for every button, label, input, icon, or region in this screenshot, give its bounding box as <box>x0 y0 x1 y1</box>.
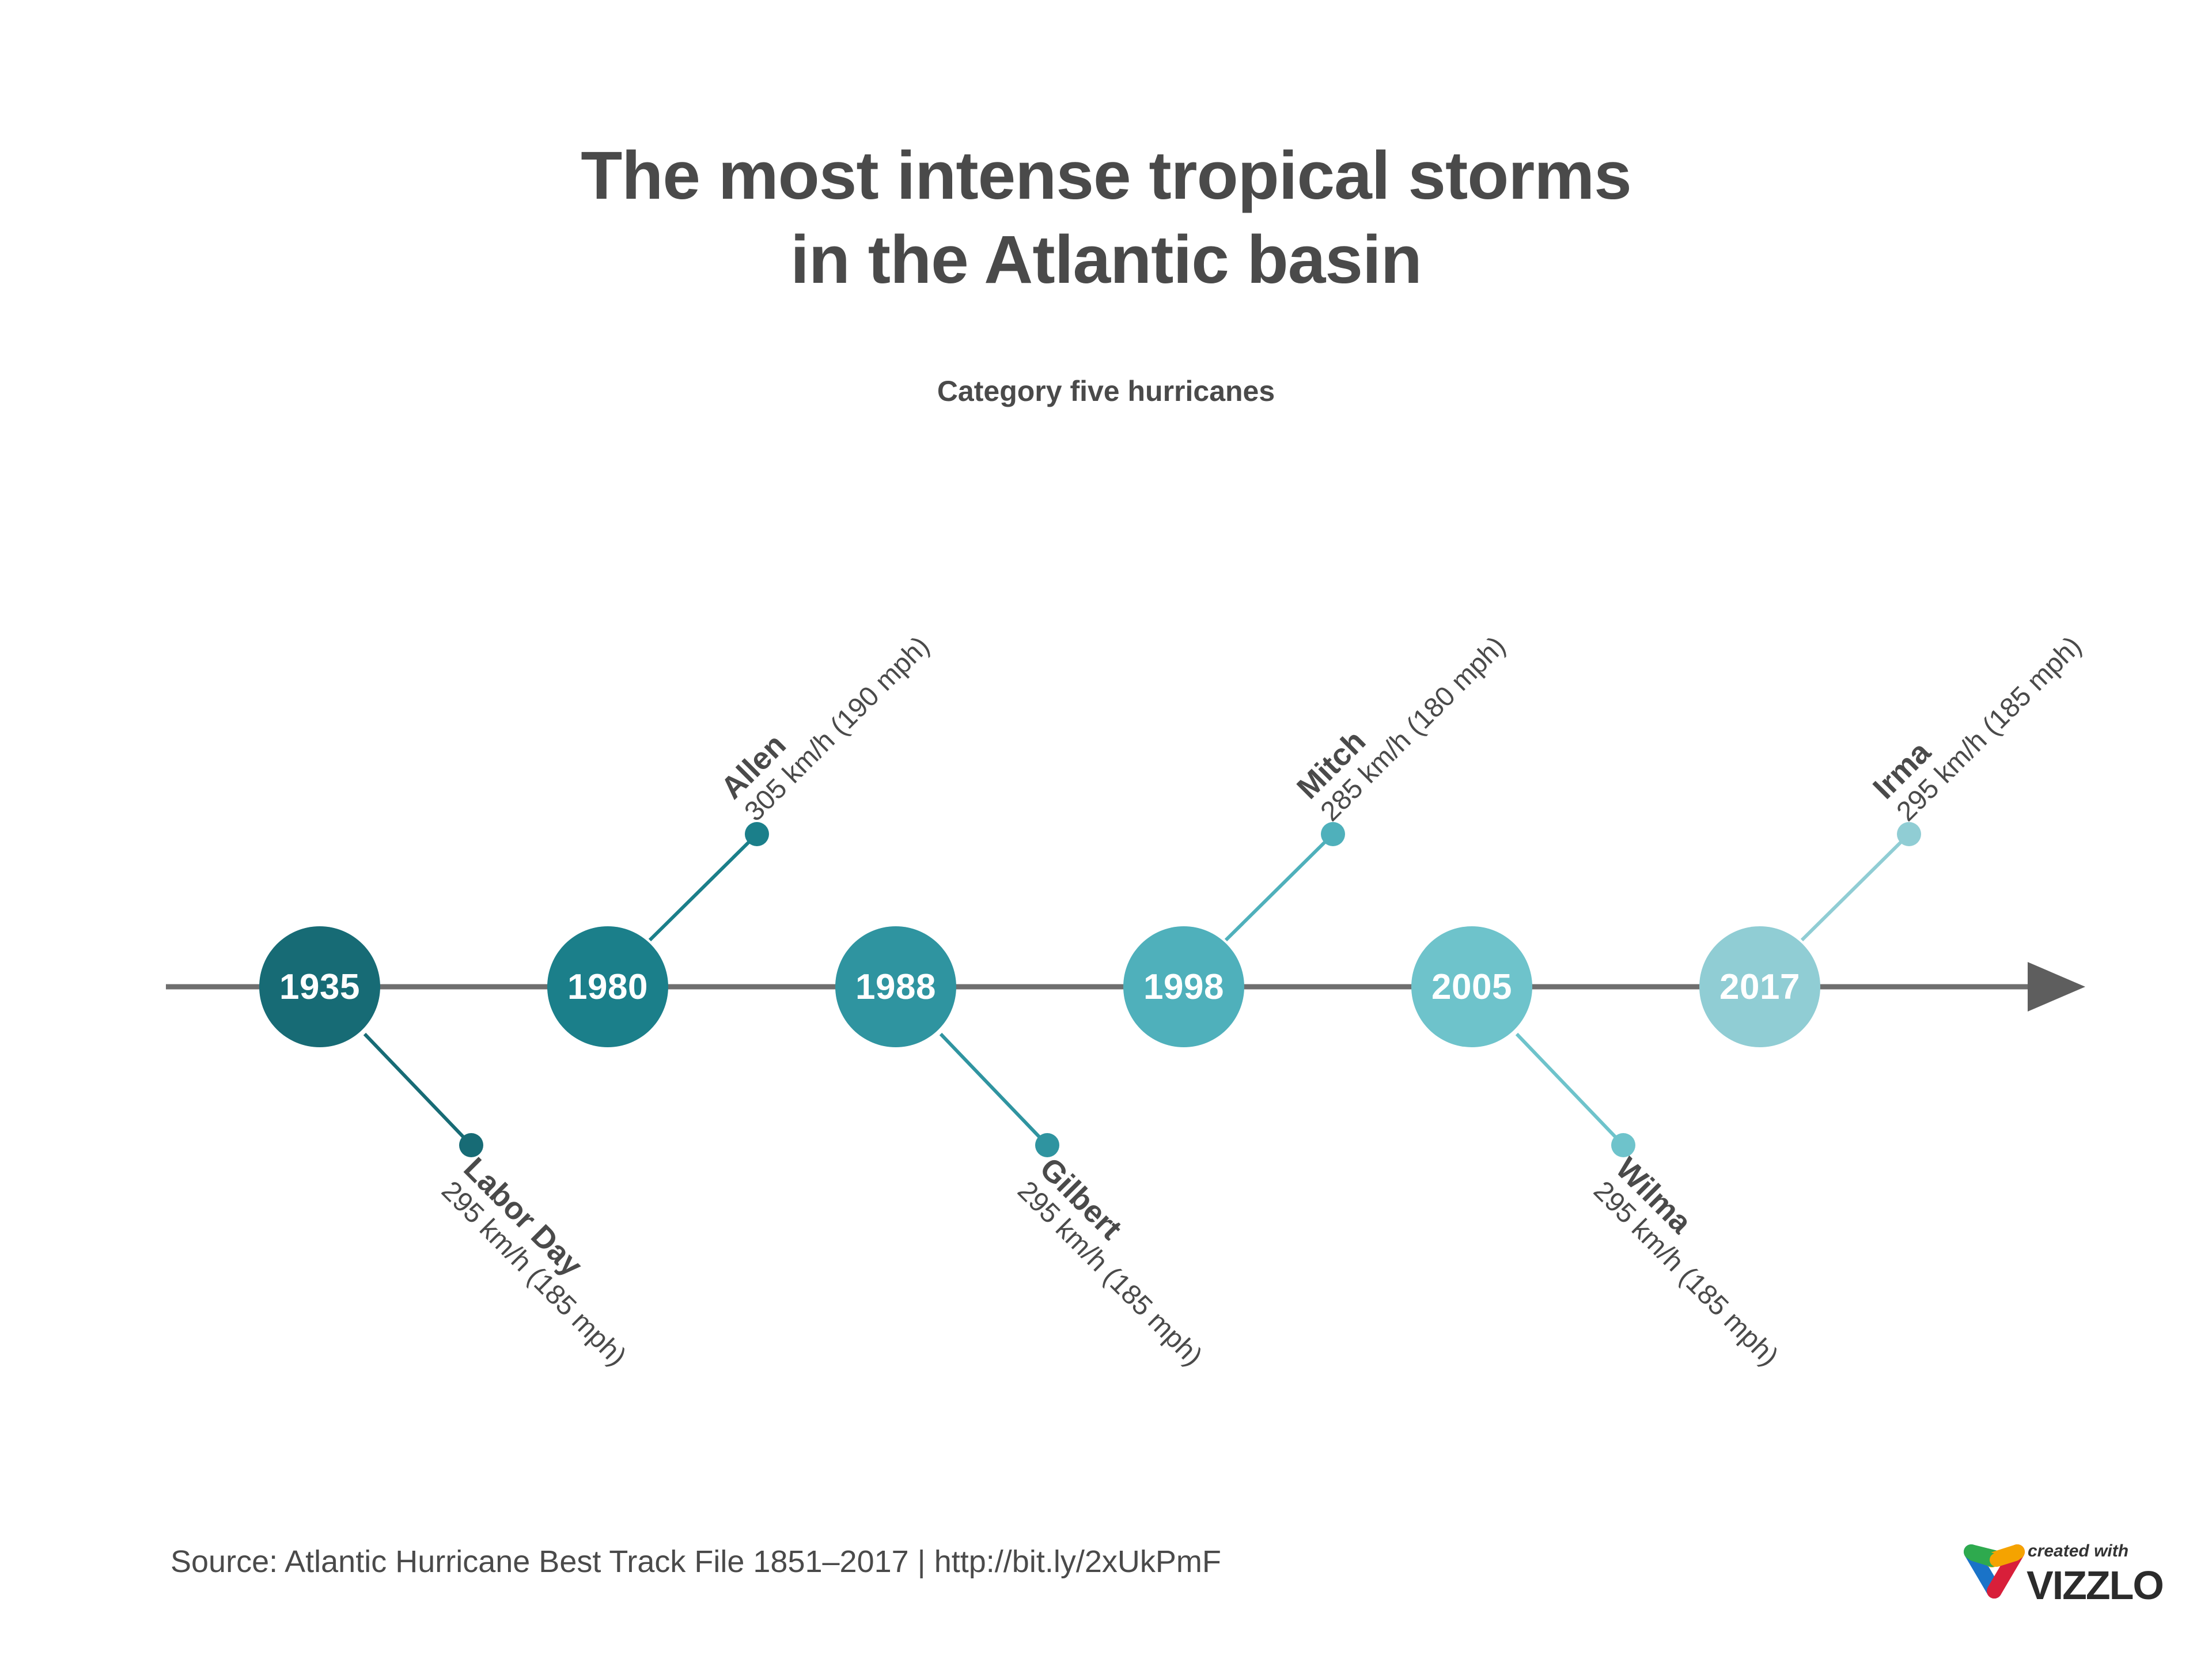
infographic-canvas: The most intense tropical storms in the … <box>0 0 2212 1659</box>
milestone-year-label: 1988 <box>855 967 936 1007</box>
connector-line-mitch <box>1226 834 1333 940</box>
timeline-graphics <box>0 0 2212 1659</box>
connector-line-wilma <box>1517 1034 1623 1145</box>
milestone-year-label: 2005 <box>1431 967 1512 1007</box>
source-note: Source: Atlantic Hurricane Best Track Fi… <box>171 1544 1221 1580</box>
milestone-year-label: 1998 <box>1143 967 1224 1007</box>
vizzlo-wordmark: VIZZLO <box>2027 1562 2163 1608</box>
connector-line-irma <box>1802 834 1909 940</box>
connector-line-allen <box>650 834 757 940</box>
milestone-year-label: 1980 <box>567 967 648 1007</box>
milestone-2017[interactable]: 2017 <box>1699 926 1820 1047</box>
milestone-1980[interactable]: 1980 <box>547 926 668 1047</box>
timeline-arrowhead <box>2028 962 2085 1012</box>
milestone-year-label: 1935 <box>279 967 360 1007</box>
vizzlo-created-with-label: created with <box>2028 1541 2128 1561</box>
milestone-1988[interactable]: 1988 <box>835 926 956 1047</box>
milestone-2005[interactable]: 2005 <box>1411 926 1532 1047</box>
connector-line-labor-day <box>365 1034 471 1145</box>
connector-line-gilbert <box>941 1034 1047 1145</box>
milestone-1998[interactable]: 1998 <box>1123 926 1244 1047</box>
milestone-1935[interactable]: 1935 <box>259 926 380 1047</box>
milestone-year-label: 2017 <box>1719 967 1800 1007</box>
